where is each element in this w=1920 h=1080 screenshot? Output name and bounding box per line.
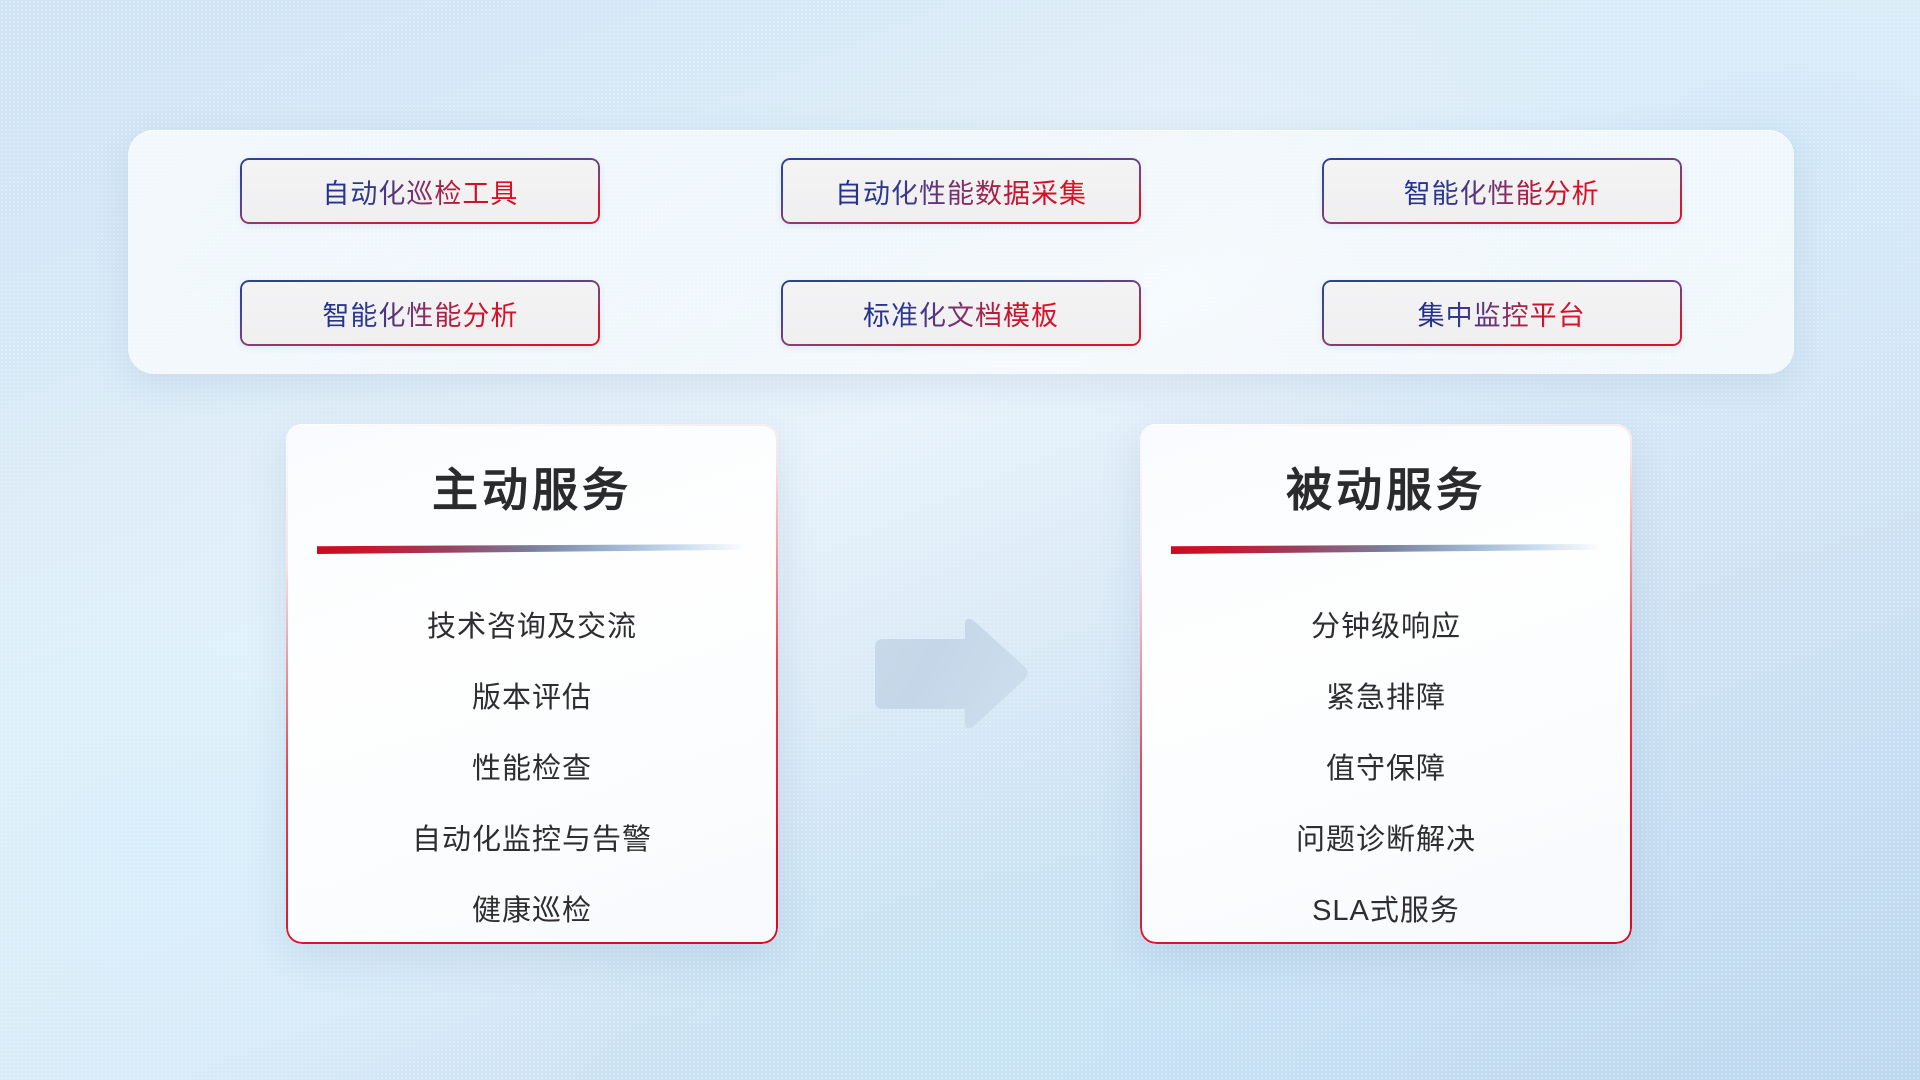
list-item: 健康巡检 [286,876,778,944]
arrow-right-icon [869,613,1031,735]
list-item: 问题诊断解决 [1140,805,1632,876]
card-title: 被动服务 [1140,424,1632,520]
list-item: 值守保障 [1140,734,1632,805]
capability-chip-label: 自动化性能数据采集 [835,172,1087,211]
list-item: 性能检查 [286,734,778,805]
capability-chip-label: 智能化性能分析 [322,294,518,333]
card-title: 主动服务 [286,424,778,520]
slide-canvas: 自动化巡检工具 自动化性能数据采集 智能化性能分析 智能化性能分析 标准化文档模… [0,0,1920,1080]
capability-chips-panel: 自动化巡检工具 自动化性能数据采集 智能化性能分析 智能化性能分析 标准化文档模… [128,130,1794,374]
capability-chip-6[interactable]: 集中监控平台 [1322,280,1682,346]
service-card-active: 主动服务 技术咨询及交流 版本评估 性能检查 自动化监控与告警 健康巡检 [286,424,778,944]
list-item: 分钟级响应 [1140,592,1632,663]
divider-bar [317,544,747,554]
capability-chip-label: 自动化巡检工具 [322,172,518,211]
divider-bar [1171,544,1601,554]
capability-chip-label: 智能化性能分析 [1404,172,1600,211]
capability-chip-label: 标准化文档模板 [863,294,1059,333]
capability-chip-5[interactable]: 标准化文档模板 [781,280,1141,346]
list-item: SLA式服务 [1140,876,1632,944]
capability-chip-2[interactable]: 自动化性能数据采集 [781,158,1141,224]
card-title-divider [1171,544,1601,554]
list-item: 技术咨询及交流 [286,592,778,663]
list-item: 自动化监控与告警 [286,805,778,876]
capability-chip-3[interactable]: 智能化性能分析 [1322,158,1682,224]
list-item: 紧急排障 [1140,663,1632,734]
capability-chip-4[interactable]: 智能化性能分析 [240,280,600,346]
service-item-list: 分钟级响应 紧急排障 值守保障 问题诊断解决 SLA式服务 [1140,554,1632,944]
list-item: 版本评估 [286,663,778,734]
service-card-passive: 被动服务 分钟级响应 紧急排障 值守保障 问题诊断解决 SLA式服务 [1140,424,1632,944]
card-title-divider [317,544,747,554]
capability-chip-label: 集中监控平台 [1418,294,1586,333]
service-item-list: 技术咨询及交流 版本评估 性能检查 自动化监控与告警 健康巡检 [286,554,778,944]
capability-chip-1[interactable]: 自动化巡检工具 [240,158,600,224]
